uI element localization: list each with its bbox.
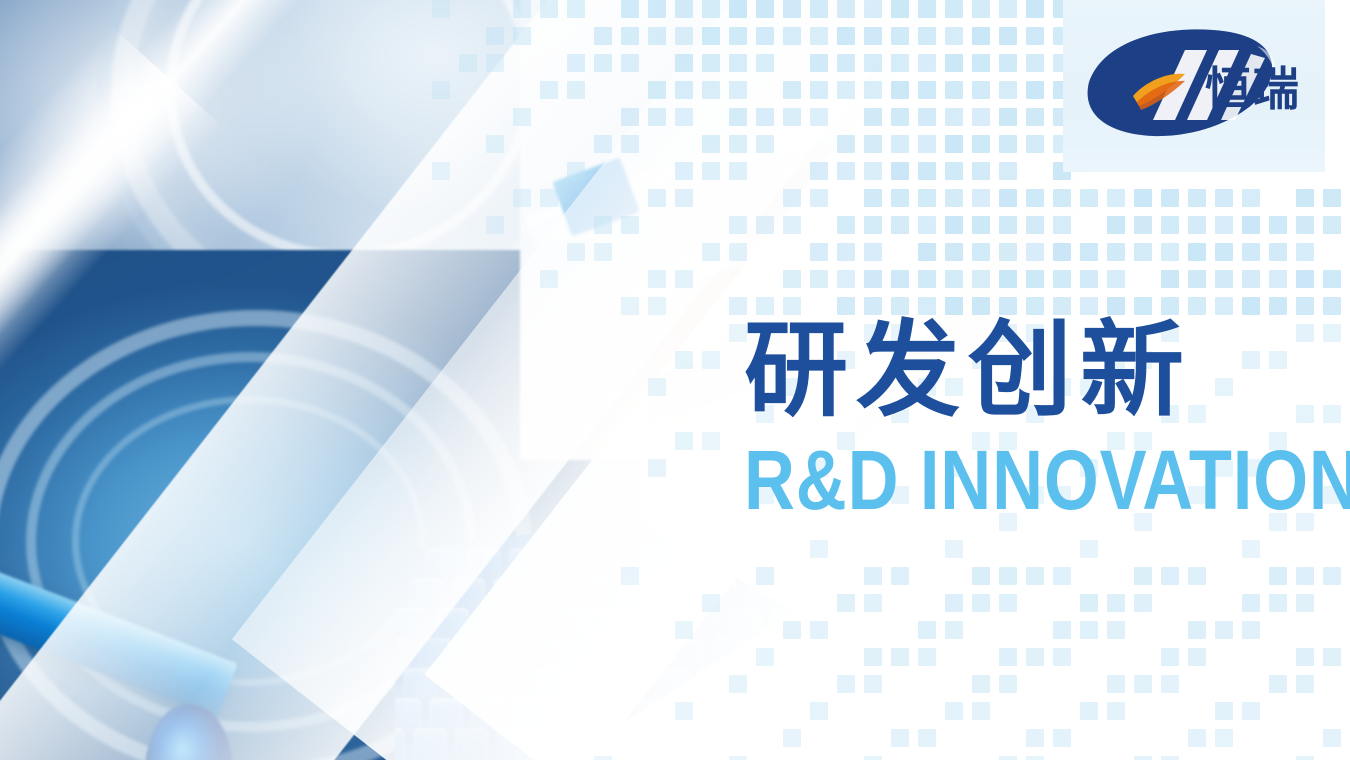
vial-cap [413,728,447,760]
vial-cap [581,728,615,760]
vial-cap [497,728,531,760]
logo-panel[interactable]: 恒瑞 [1063,0,1325,172]
headline-block: 研发创新 R&D INNOVATION [744,318,1344,522]
vial-cap [539,728,573,760]
vial-cap [395,728,405,760]
vial-cap [455,728,489,760]
logo-brand-text: 恒瑞 [1205,66,1301,112]
page-title-chinese: 研发创新 [744,318,1344,422]
page-title-english: R&D INNOVATION [744,438,1248,522]
vial-cap [665,728,699,760]
rd-innovation-banner: 研发创新 R&D INNOVATION 恒瑞 [0,0,1350,760]
vial-cap [623,728,657,760]
